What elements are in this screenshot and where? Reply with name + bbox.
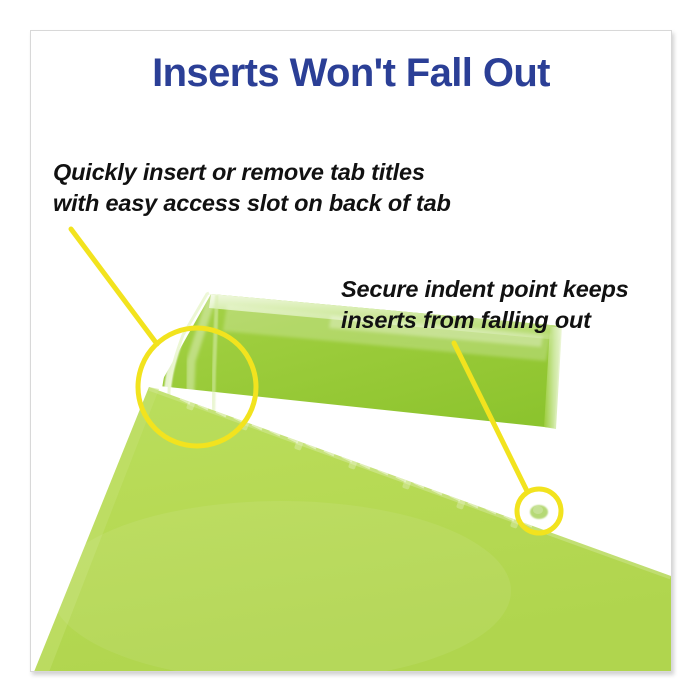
annotation-secure-indent-point: Secure indent point keeps inserts from f… [341,274,629,335]
image-card-frame: Inserts Won't Fall Out Quickly insert or… [30,30,672,672]
annotation-easy-access-slot: Quickly insert or remove tab titles with… [53,157,451,218]
annotation-left-line-2: with easy access slot on back of tab [53,188,451,219]
figure-stage: Inserts Won't Fall Out Quickly insert or… [31,31,671,671]
product-feature-figure: Inserts Won't Fall Out Quickly insert or… [0,0,700,700]
annotation-right-line-1: Secure indent point keeps [341,274,629,305]
right-callout-circle [517,489,561,533]
annotation-left-line-1: Quickly insert or remove tab titles [53,157,451,188]
page-title: Inserts Won't Fall Out [31,51,671,95]
left-leader-line [71,229,157,344]
callout-right [454,343,561,533]
annotation-right-line-2: inserts from falling out [341,305,629,336]
callout-left [71,229,256,446]
callout-overlay [31,31,671,671]
right-leader-line [454,343,527,491]
